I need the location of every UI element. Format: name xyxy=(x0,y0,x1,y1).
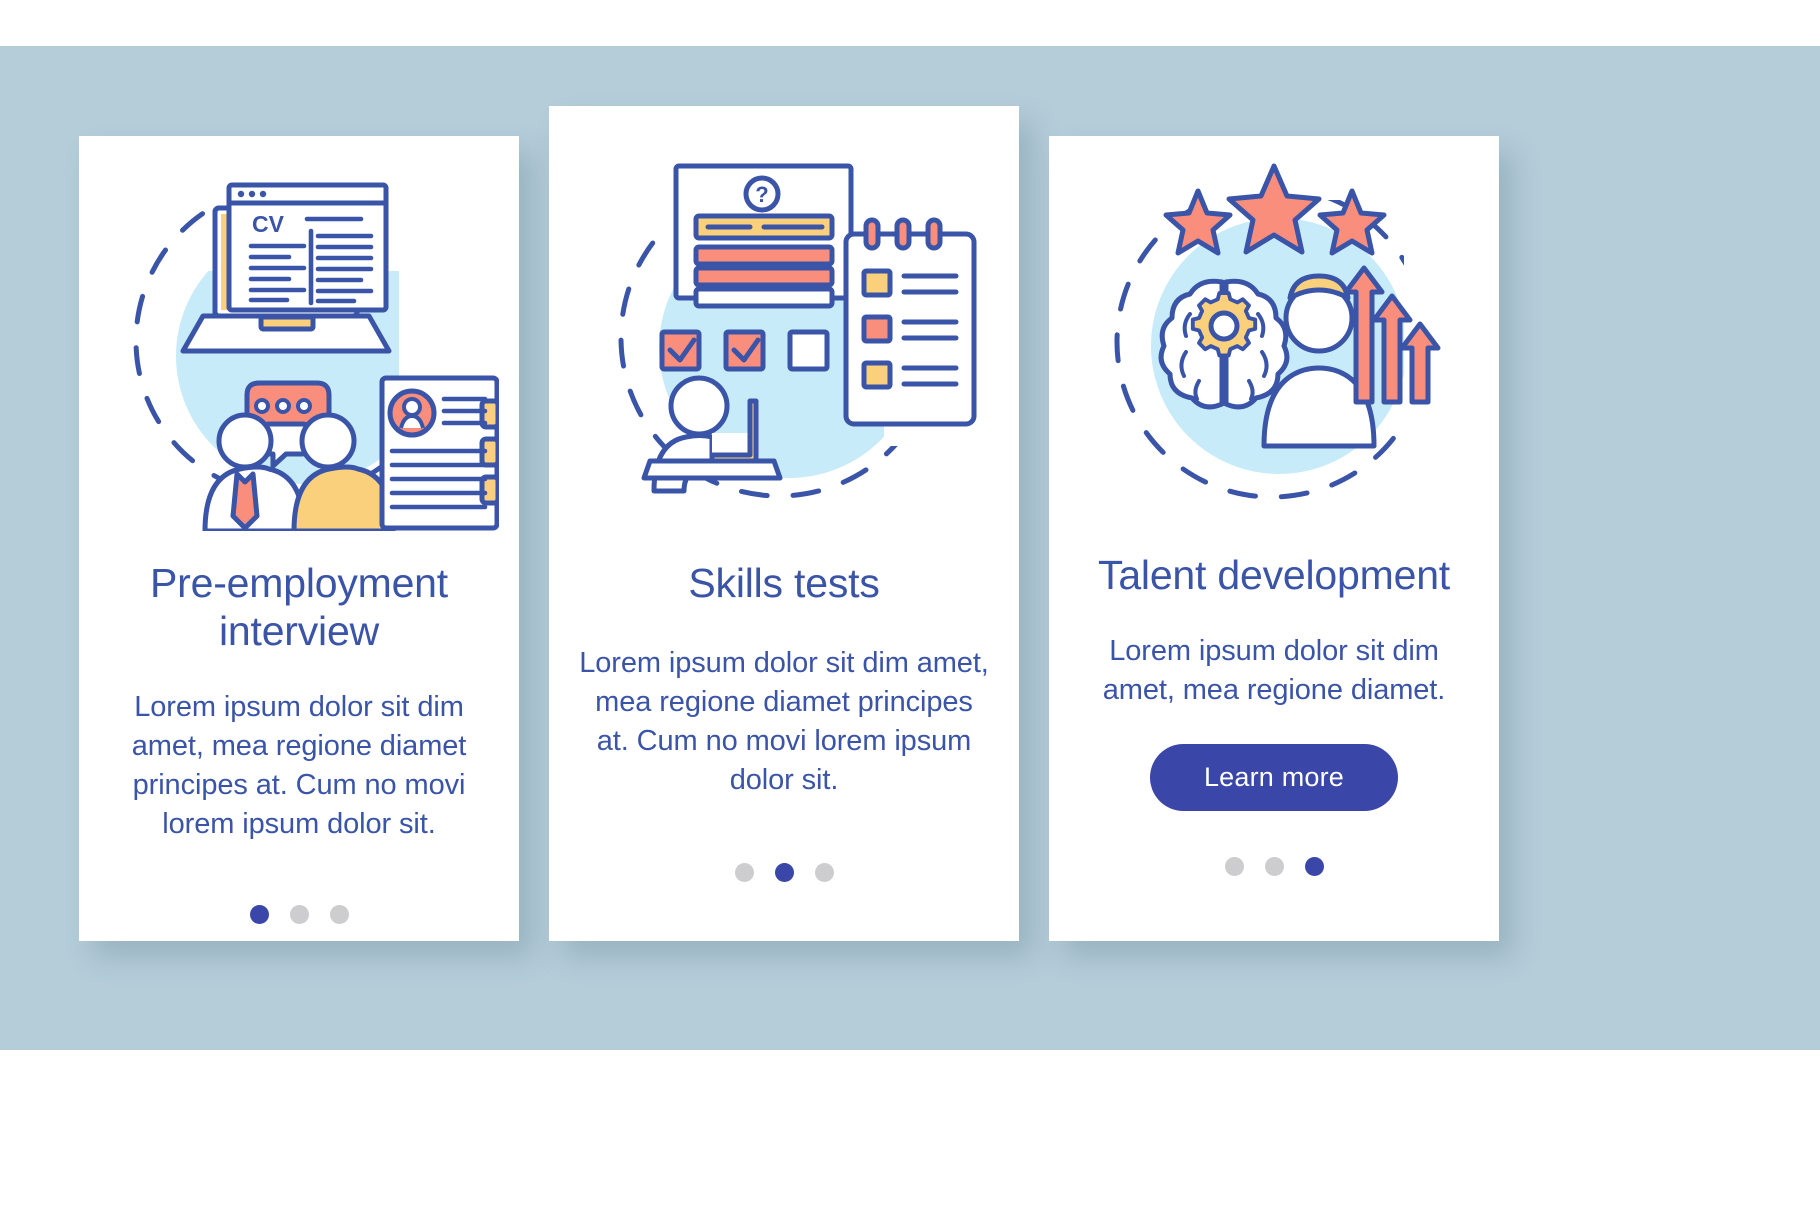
card-title-talent-development: Talent development xyxy=(1049,552,1499,600)
pagination-dot-1[interactable] xyxy=(1225,857,1244,876)
pagination-dot-2[interactable] xyxy=(290,905,309,924)
onboarding-card-pre-employment-interview: CV xyxy=(79,136,519,941)
brain-gear-stars-growth-illustration xyxy=(1049,136,1499,536)
pagination-dot-1[interactable] xyxy=(735,863,754,882)
quiz-checkbox-notepad-illustration: ? xyxy=(549,106,1019,546)
card-body-skills-tests: Lorem ipsum dolor sit dim amet, mea regi… xyxy=(549,644,1019,799)
pagination-dots-card-3 xyxy=(1049,857,1499,876)
learn-more-button-wrap: Learn more xyxy=(1049,744,1499,811)
pagination-dot-3[interactable] xyxy=(330,905,349,924)
onboarding-card-talent-development: Talent development Lorem ipsum dolor sit… xyxy=(1049,136,1499,941)
onboarding-screens-canvas: CV xyxy=(0,0,1820,1213)
pagination-dot-3[interactable] xyxy=(815,863,834,882)
pagination-dot-2[interactable] xyxy=(1265,857,1284,876)
card-body-talent-development: Lorem ipsum dolor sit dim amet, mea regi… xyxy=(1049,632,1499,710)
pagination-dots-card-2 xyxy=(549,863,1019,882)
card-title-skills-tests: Skills tests xyxy=(549,560,1019,608)
learn-more-button[interactable]: Learn more xyxy=(1150,744,1398,811)
cv-laptop-interview-illustration: CV xyxy=(79,136,519,536)
pagination-dots-card-1 xyxy=(79,905,519,924)
card-body-pre-employment-interview: Lorem ipsum dolor sit dim amet, mea regi… xyxy=(79,688,519,843)
pagination-dot-1[interactable] xyxy=(250,905,269,924)
onboarding-card-skills-tests: ? xyxy=(549,106,1019,941)
question-mark-label: ? xyxy=(755,182,768,207)
pagination-dot-3[interactable] xyxy=(1305,857,1324,876)
cv-label: CV xyxy=(252,211,285,237)
pagination-dot-2[interactable] xyxy=(775,863,794,882)
card-title-pre-employment-interview: Pre-employment interview xyxy=(79,560,519,656)
